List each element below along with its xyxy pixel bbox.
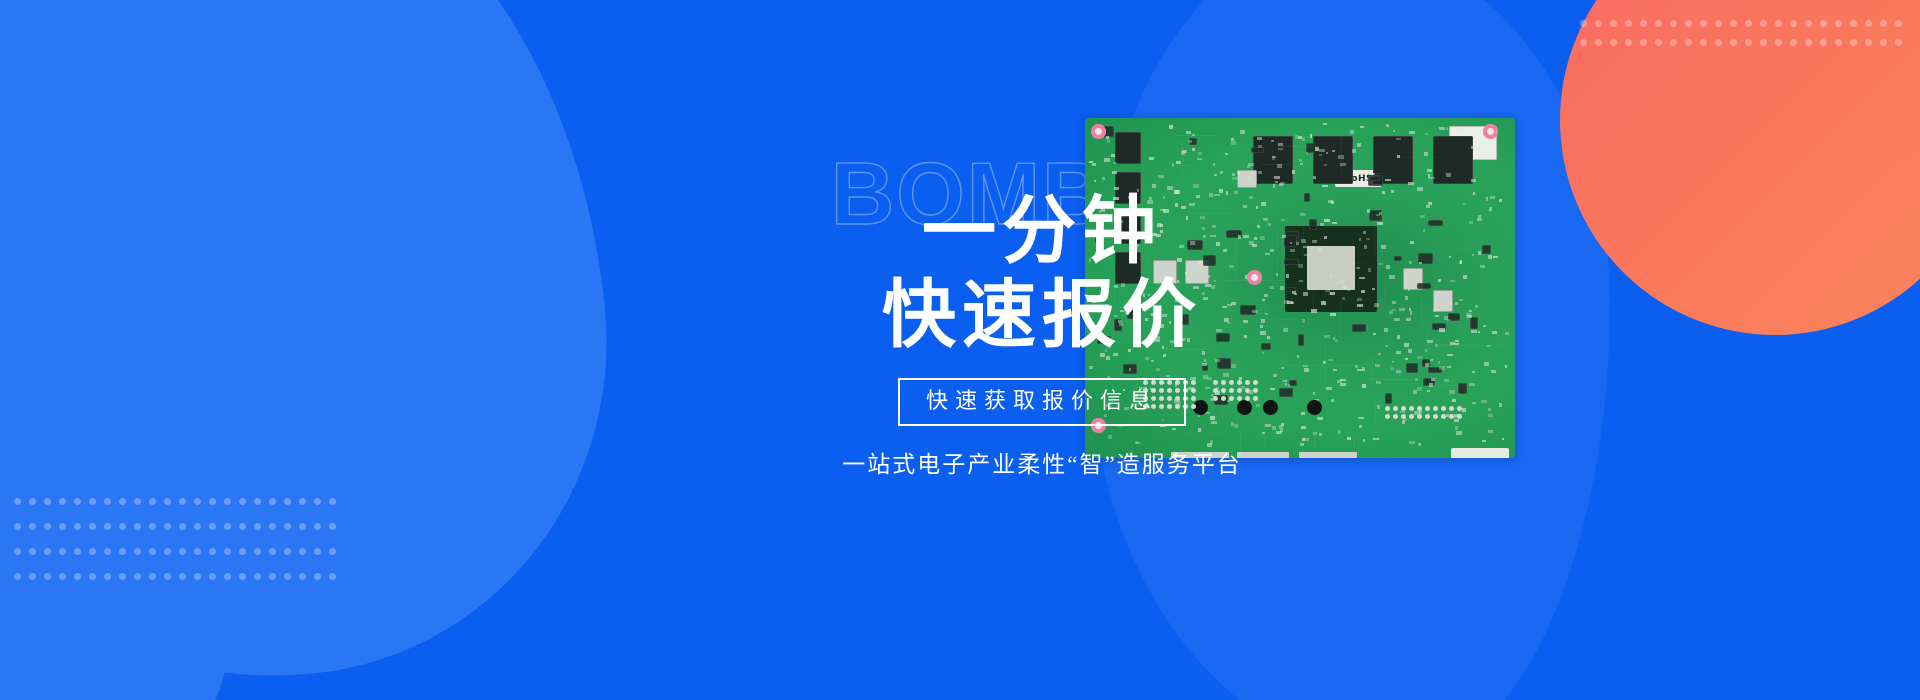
tagline-text: 一站式电子产业柔性“智”造服务平台 — [742, 445, 1342, 479]
headline-line-1: 一分钟 — [742, 194, 1342, 268]
headline-line-2: 快速报价 — [742, 278, 1342, 352]
connector-block — [1451, 448, 1509, 458]
promo-banner: BOMBOM 一分钟 快速报价 快速获取报价信息 一站式电子产业柔性“智”造服务… — [0, 0, 1920, 700]
dot-pattern-bottom-left — [14, 498, 334, 594]
get-quote-button[interactable]: 快速获取报价信息 — [898, 378, 1186, 426]
headline: 一分钟 快速报价 — [742, 150, 1342, 352]
copy-block: BOMBOM 一分钟 快速报价 快速获取报价信息 一站式电子产业柔性“智”造服务… — [742, 150, 1342, 550]
dot-pattern-top-right — [1580, 20, 1910, 60]
